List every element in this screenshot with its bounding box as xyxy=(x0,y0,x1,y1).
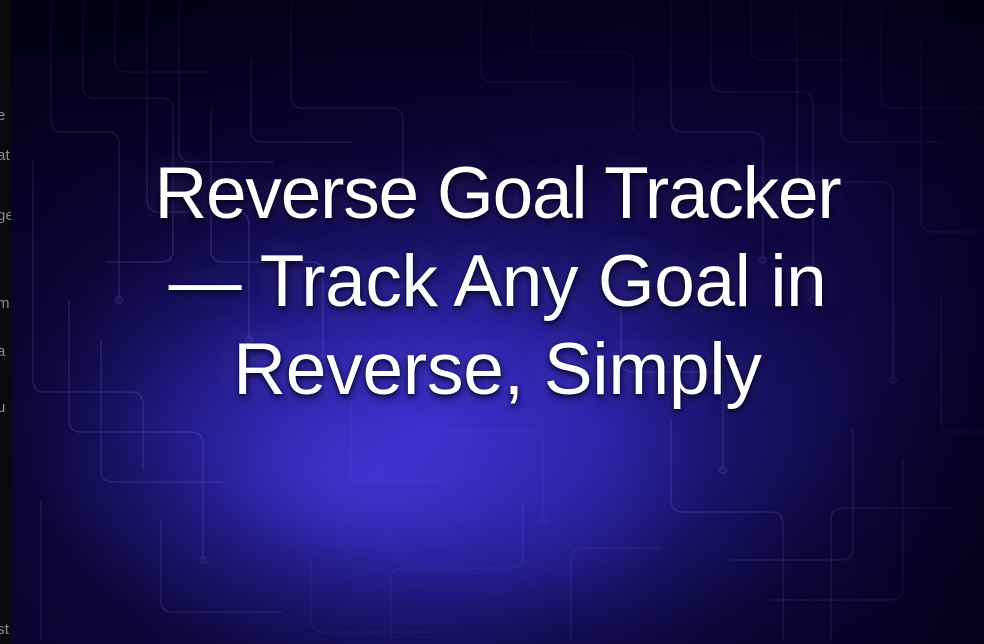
slide-title: Reverse Goal Tracker — Track Any Goal in… xyxy=(11,150,984,414)
title-card-screen: Reverse Goal Tracker — Track Any Goal in… xyxy=(0,0,984,644)
left-edge-page-strip: e at ge m a u l st xyxy=(0,0,11,644)
edge-text-fragment: u xyxy=(0,400,6,415)
edge-text-fragment: e xyxy=(0,108,6,123)
title-line-3: Reverse, Simply xyxy=(11,326,984,414)
slide-canvas: Reverse Goal Tracker — Track Any Goal in… xyxy=(11,0,984,644)
edge-text-fragment: m xyxy=(0,296,10,311)
edge-text-fragment: st xyxy=(0,622,9,637)
title-line-2: — Track Any Goal in xyxy=(11,238,984,326)
title-line-1: Reverse Goal Tracker xyxy=(11,150,984,238)
edge-text-fragment: ge xyxy=(0,208,11,223)
edge-text-fragment: l xyxy=(0,444,1,459)
edge-text-fragment: at xyxy=(0,148,10,163)
edge-text-fragment: a xyxy=(0,344,6,359)
